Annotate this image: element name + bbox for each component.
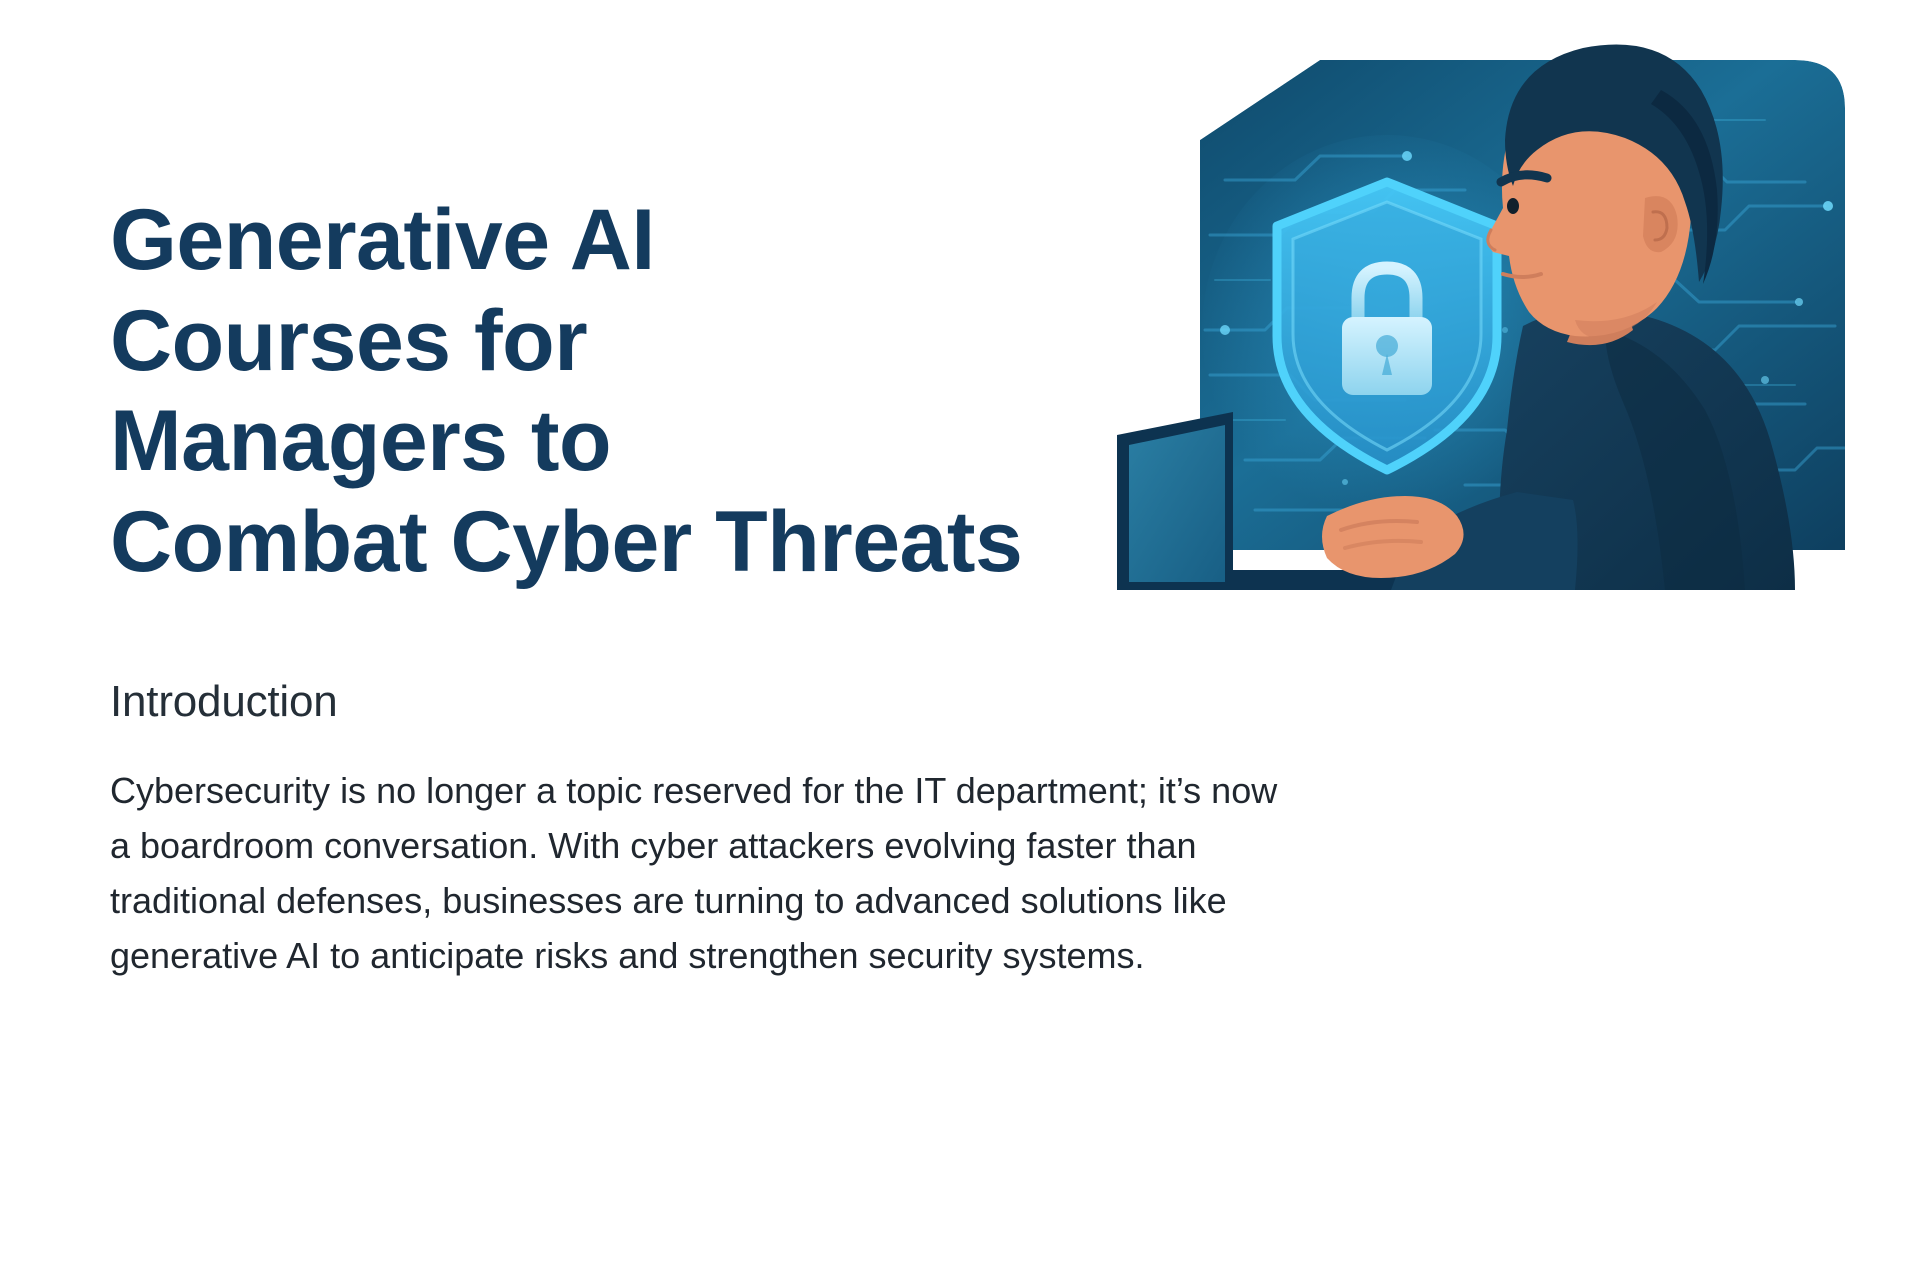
body-line-4: generative AI to anticipate risks and st… — [110, 928, 1450, 983]
introduction-paragraph: Cybersecurity is no longer a topic reser… — [110, 763, 1450, 983]
body-line-1: Cybersecurity is no longer a topic reser… — [110, 763, 1450, 818]
headline-line-3: Managers to — [110, 391, 890, 492]
section-heading-introduction: Introduction — [110, 676, 1420, 729]
headline-line-4: Combat Cyber Threats — [110, 492, 890, 593]
headline-line-1: Generative AI — [110, 190, 890, 291]
headline-line-2: Courses for — [110, 291, 890, 392]
body-line-3: traditional defenses, businesses are tur… — [110, 873, 1450, 928]
article-content: Generative AI Courses for Managers to Co… — [110, 190, 1420, 984]
page-title: Generative AI Courses for Managers to Co… — [110, 190, 890, 592]
body-line-2: a boardroom conversation. With cyber att… — [110, 818, 1450, 873]
article-page: Generative AI Courses for Managers to Co… — [0, 0, 1920, 1280]
